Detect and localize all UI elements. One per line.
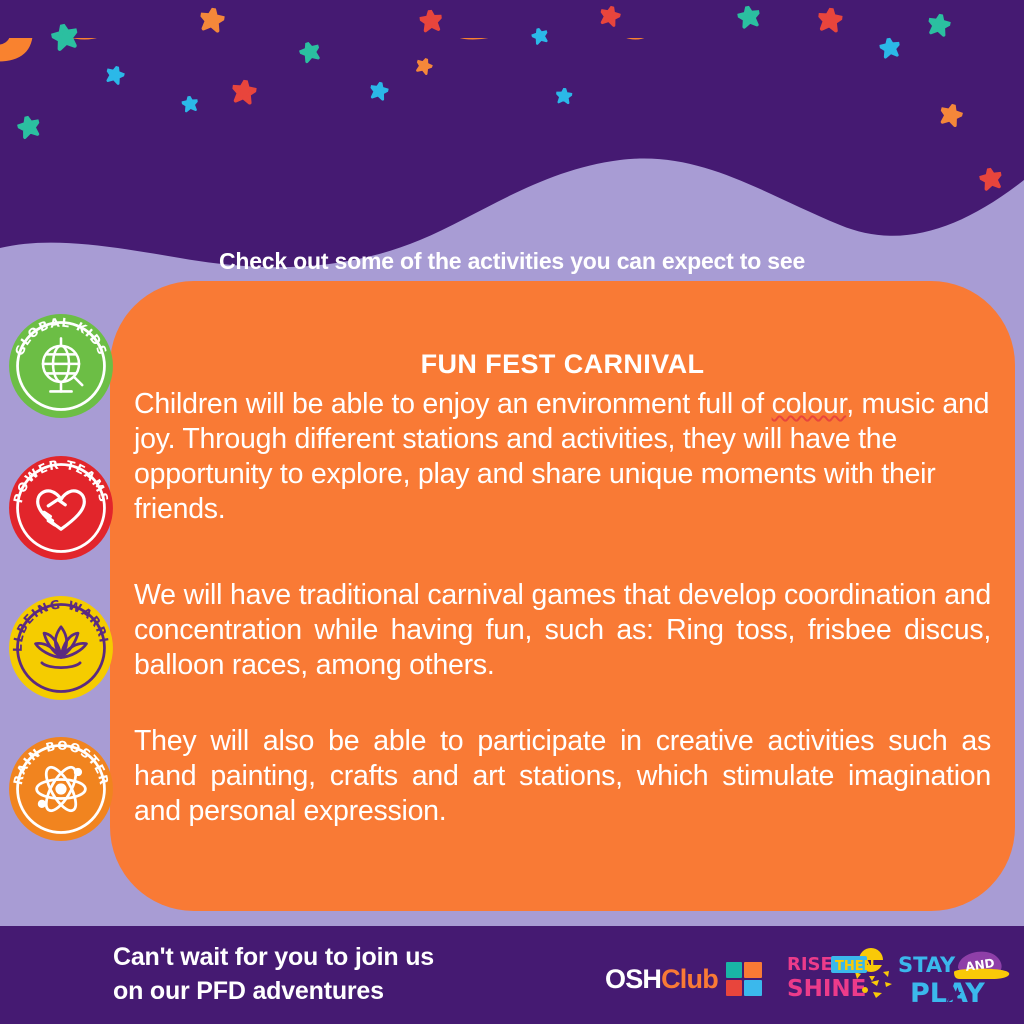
oshclub-wordmark: OSHClub	[605, 964, 718, 995]
footer-message: Can't wait for you to join us on our PFD…	[113, 940, 434, 1008]
oshclub-squares-icon	[726, 962, 762, 996]
badge-power-teams: POWER TEAMS	[8, 455, 114, 561]
rise-then-shine-logo: RISE THEN SHINE	[785, 946, 900, 1010]
oshclub-club: Club	[661, 964, 718, 994]
headline-text: Join the fun	[0, 38, 771, 66]
then-badge: THEN	[835, 959, 875, 974]
poster-root: Join the fun Check out some of the activ…	[0, 0, 1024, 1024]
footer-line-2: on our PFD adventures	[113, 974, 434, 1008]
badge-wellbeing-warriors: WELLBEING WARRIORS	[8, 595, 114, 701]
stay-and-play-logo: STAY AND PLAY	[896, 946, 1020, 1010]
badge-brain-boosters: BRAIN BOOSTERS	[8, 736, 114, 842]
footer-bar: Can't wait for you to join us on our PFD…	[0, 926, 1024, 1024]
shine-word: SHINE	[787, 976, 866, 1002]
footer-line-1: Can't wait for you to join us	[113, 940, 434, 974]
badge-global-kids: GLOBAL KIDS	[8, 313, 114, 419]
paragraph-3: They will also be able to participate in…	[134, 724, 991, 829]
subtitle: Check out some of the activities you can…	[0, 248, 1024, 275]
page-title: Join the fun	[0, 38, 1024, 228]
activities-card: FUN FEST CARNIVAL Children will be able …	[110, 281, 1015, 911]
stay-word: STAY	[898, 953, 956, 977]
misspelled-word: colour	[772, 388, 847, 420]
paragraph-1: Children will be able to enjoy an enviro…	[134, 387, 991, 527]
paragraph-2: We will have traditional carnival games …	[134, 578, 991, 683]
card-body: Children will be able to enjoy an enviro…	[134, 387, 991, 829]
rise-word: RISE	[787, 954, 833, 975]
paragraph-1-before: Children will be able to enjoy an enviro…	[134, 388, 772, 420]
oshclub-osh: OSH	[605, 964, 661, 994]
oshclub-logo: OSHClub	[605, 962, 762, 996]
card-title: FUN FEST CARNIVAL	[110, 349, 1015, 380]
logo-row: OSHClub RISE	[600, 938, 1020, 1010]
